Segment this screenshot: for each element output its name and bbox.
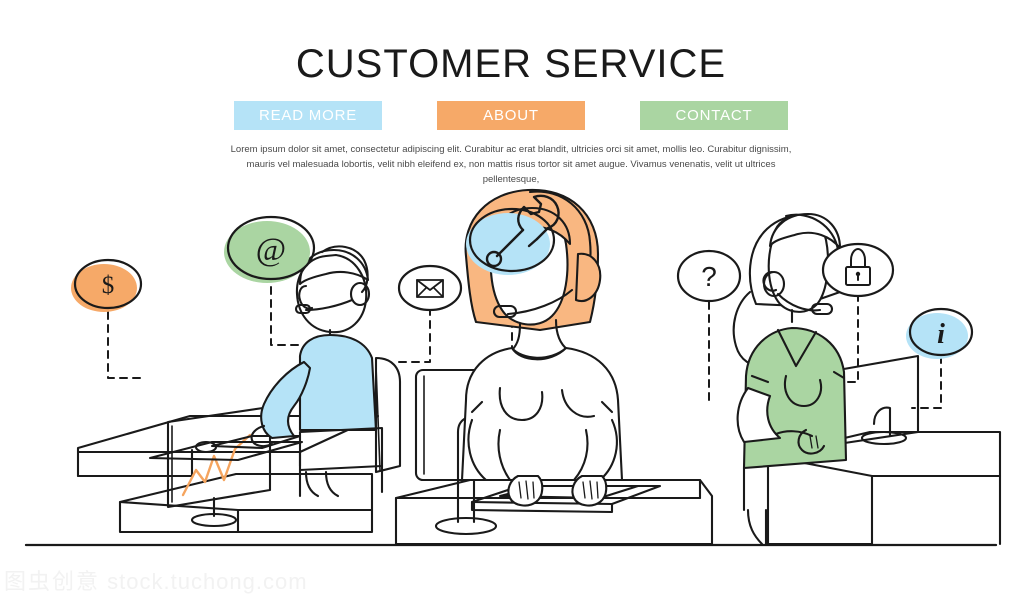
envelope-icon[interactable] xyxy=(399,266,461,310)
page-root: CUSTOMER SERVICE READ MORE ABOUT CONTACT… xyxy=(0,0,1022,597)
watermark: 图虫创意 stock.tuchong.com xyxy=(4,564,308,596)
contact-button[interactable]: CONTACT xyxy=(640,101,788,130)
info-icon[interactable]: i xyxy=(906,309,972,359)
dollar-icon[interactable]: $ xyxy=(71,260,141,312)
header: CUSTOMER SERVICE READ MORE ABOUT CONTACT… xyxy=(0,0,1022,84)
page-title: CUSTOMER SERVICE xyxy=(0,0,1022,84)
svg-text:i: i xyxy=(937,319,945,350)
customer-service-illustration: $ @ xyxy=(0,180,1022,560)
connector-envelope xyxy=(398,308,430,362)
watermark-chinese: 图虫创意 xyxy=(4,569,100,594)
nav-button-row: READ MORE ABOUT CONTACT xyxy=(0,101,1022,130)
svg-text:$: $ xyxy=(102,272,115,299)
question-mark-icon[interactable]: ? xyxy=(678,251,740,301)
svg-text:?: ? xyxy=(701,261,717,292)
connector-info xyxy=(912,356,941,408)
illustration-stage: $ @ xyxy=(0,180,1022,560)
right-monitor xyxy=(838,356,918,444)
left-platform-top xyxy=(120,474,372,510)
left-platform-side xyxy=(238,510,372,532)
about-button[interactable]: ABOUT xyxy=(437,101,585,130)
read-more-button[interactable]: READ MORE xyxy=(234,101,382,130)
lock-icon[interactable] xyxy=(823,244,893,296)
agent-left xyxy=(252,246,400,496)
connector-dollar xyxy=(108,312,140,378)
svg-text:@: @ xyxy=(256,232,286,268)
watermark-latin: stock.tuchong.com xyxy=(107,569,307,594)
